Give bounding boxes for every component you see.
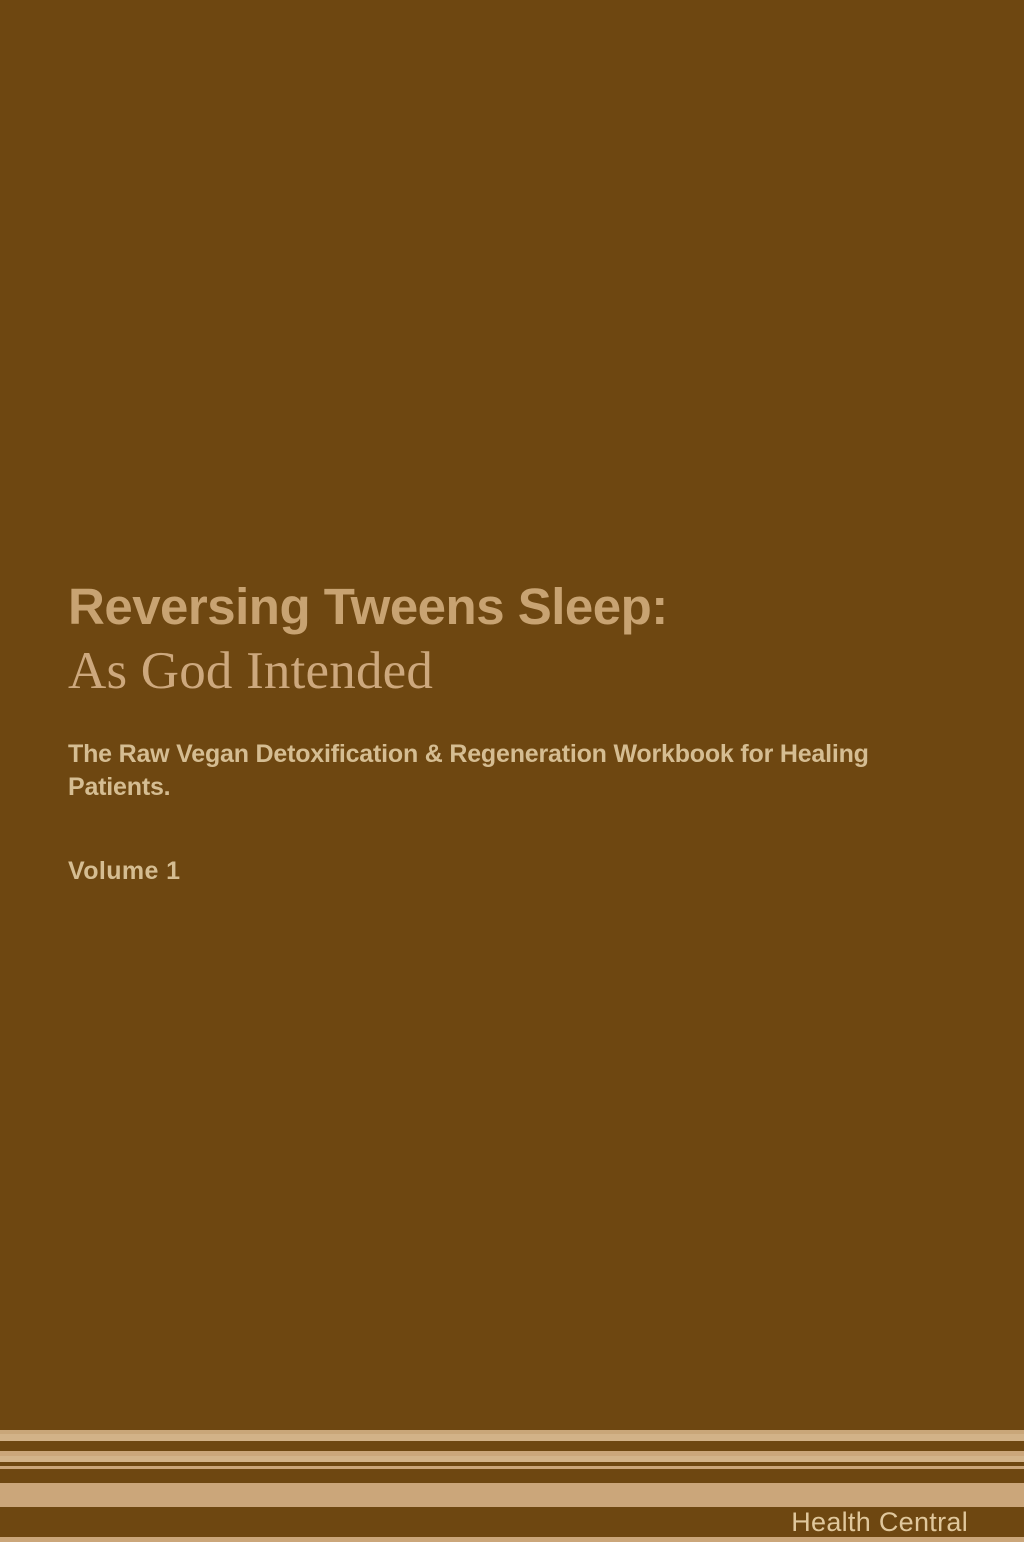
cover-subtitle: The Raw Vegan Detoxification & Regenerat… [68,702,898,804]
title-line-primary: Reversing Tweens Sleep: [68,578,928,636]
stripe-7 [0,1469,1024,1483]
title-line-secondary: As God Intended [68,636,928,702]
footer-stripe-band: Health Central [0,1430,1024,1542]
stripe-2 [0,1441,1024,1451]
stripe-8 [0,1483,1024,1507]
cover-text-block: Reversing Tweens Sleep: As God Intended … [68,578,928,886]
volume-label: Volume 1 [68,804,928,886]
book-cover: Reversing Tweens Sleep: As God Intended … [0,0,1024,1542]
stripe-1 [0,1434,1024,1441]
publisher-label: Health Central [791,1507,968,1538]
decorative-stripes [0,1430,1024,1507]
bottom-edge-stripe [0,1537,1024,1542]
publisher-band: Health Central [0,1507,1024,1537]
